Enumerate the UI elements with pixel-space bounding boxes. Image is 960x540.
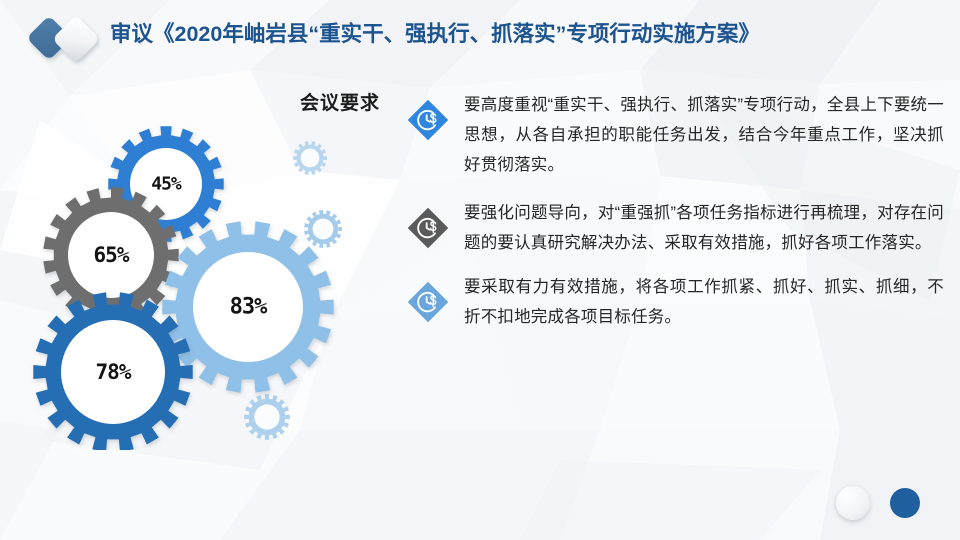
company-logo	[25, 14, 113, 70]
gear-svg	[20, 110, 390, 450]
decorative-dot-blue	[890, 488, 920, 518]
clock-dollar-icon	[406, 98, 450, 142]
gear-label-45: 45%	[151, 174, 181, 195]
requirement-icon-wrap	[392, 272, 464, 324]
gear-label-65: 65%	[94, 243, 129, 267]
decorative-gear-4	[244, 394, 290, 440]
requirement-icon-wrap	[392, 198, 464, 250]
gear-label-78: 78%	[96, 360, 131, 384]
clock-dollar-icon	[406, 206, 450, 250]
decorative-dot-light	[836, 486, 870, 520]
clock-dollar-icon	[406, 280, 450, 324]
decorative-gear-1	[293, 141, 327, 175]
requirement-text: 要高度重视“重实干、强执行、抓落实”专项行动，全县上下要统一思想，从各自承担的职…	[464, 90, 952, 180]
requirement-text: 要强化问题导向，对“重强抓”各项任务指标进行再梳理，对存在问题的要认真研究解决办…	[464, 198, 952, 258]
slide-header: 审议《2020年岫岩县“重实干、强执行、抓落实”专项行动实施方案》	[0, 0, 960, 72]
requirement-item[interactable]: 要高度重视“重实干、强执行、抓落实”专项行动，全县上下要统一思想，从各自承担的职…	[392, 90, 952, 180]
gear-infographic: 45%65%83%78%	[20, 110, 390, 450]
page-title: 审议《2020年岫岩县“重实干、强执行、抓落实”专项行动实施方案》	[110, 18, 960, 50]
gear-label-83: 83%	[230, 295, 267, 320]
requirement-item[interactable]: 要强化问题导向，对“重强抓”各项任务指标进行再梳理，对存在问题的要认真研究解决办…	[392, 198, 952, 258]
meeting-requirements-list: 要高度重视“重实干、强执行、抓落实”专项行动，全县上下要统一思想，从各自承担的职…	[392, 90, 952, 332]
requirement-text: 要采取有力有效措施，将各项工作抓紧、抓好、抓实、抓细，不折不扣地完成各项目标任务…	[464, 272, 952, 332]
requirement-item[interactable]: 要采取有力有效措施，将各项工作抓紧、抓好、抓实、抓细，不折不扣地完成各项目标任务…	[392, 272, 952, 332]
slide-canvas: 审议《2020年岫岩县“重实干、强执行、抓落实”专项行动实施方案》 会议要求 4…	[0, 0, 960, 540]
requirement-icon-wrap	[392, 90, 464, 142]
decorative-gear-3	[304, 210, 342, 248]
